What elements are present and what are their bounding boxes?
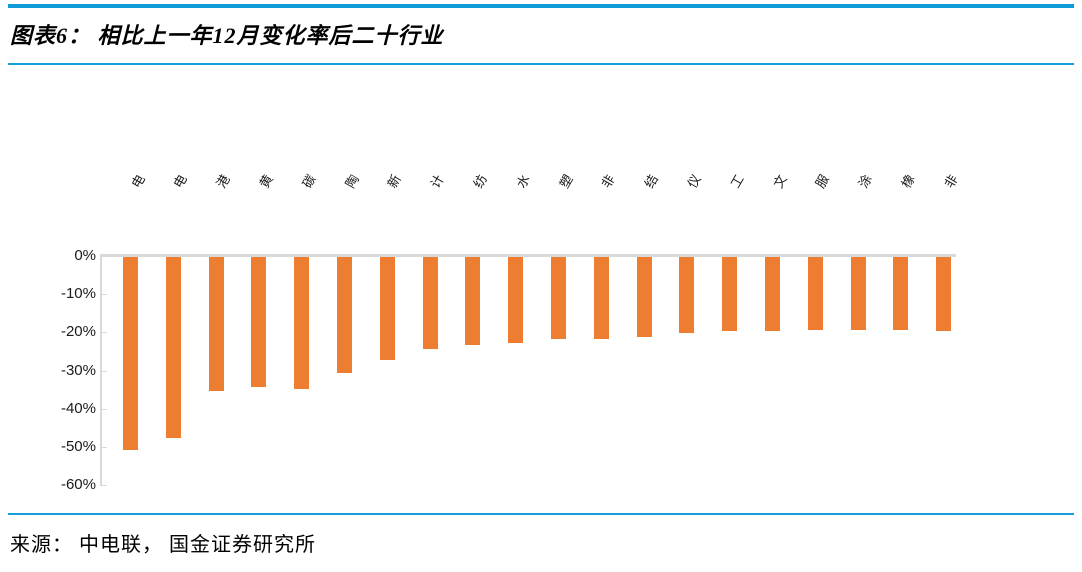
bar [679,257,694,333]
y-axis-tick [100,447,107,448]
zero-baseline-axis [100,254,956,257]
y-axis-tick-label: -10% [38,286,96,301]
bar [251,257,266,387]
bar [294,257,309,389]
bar [765,257,780,331]
bar [551,257,566,339]
bar [423,257,438,349]
bar [808,257,823,330]
y-axis-tick [100,409,107,410]
bar [851,257,866,330]
y-axis-tick [100,256,107,257]
bar [893,257,908,330]
y-axis-tick-label: -40% [38,401,96,416]
figure-panel: 图表6： 相比上一年12月变化率后二十行业 0%-10%-20%-30%-40%… [0,0,1082,572]
bar [337,257,352,373]
y-axis-tick [100,485,107,486]
y-axis-tick-label: -30% [38,363,96,378]
bar [722,257,737,331]
bar [380,257,395,360]
y-axis-tick-label: -20% [38,324,96,339]
y-axis-tick [100,371,107,372]
bar [166,257,181,438]
title-underline-rule [8,63,1074,65]
page-title: 图表6： 相比上一年12月变化率后二十行业 [10,18,444,50]
bar [465,257,480,345]
y-axis-tick [100,294,107,295]
bar [936,257,951,331]
bar [594,257,609,339]
bar [508,257,523,343]
chart-plot-area: 0%-10%-20%-30%-40%-50%-60% 电电港黄碳陶新计纺水塑非结… [0,70,1082,510]
bar [209,257,224,391]
source-note: 来源： 中电联， 国金证券研究所 [10,528,316,557]
y-axis-tick-label: -50% [38,439,96,454]
y-axis-tick [100,332,107,333]
bar [123,257,138,450]
top-rule [8,4,1074,8]
bar [637,257,652,337]
y-axis-tick-label: 0% [38,248,96,263]
source-divider-rule [8,513,1074,515]
y-axis-tick-label: -60% [38,477,96,492]
